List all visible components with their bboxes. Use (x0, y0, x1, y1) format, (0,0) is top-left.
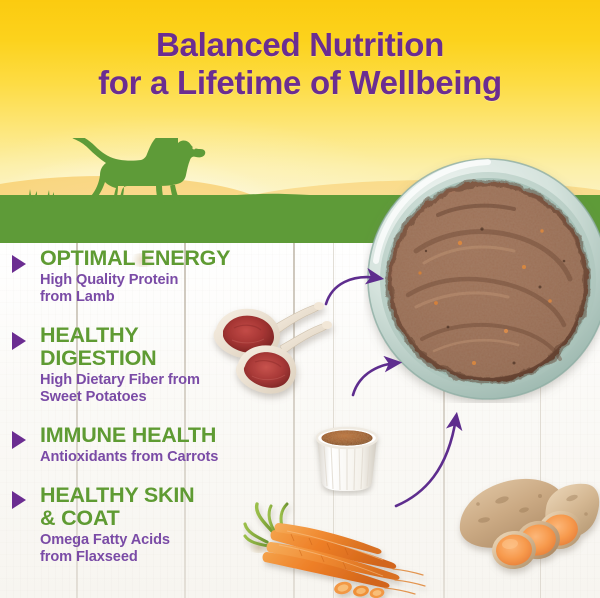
arrow-lamb-to-bowl (322, 268, 394, 310)
dog-silhouette-icon (60, 138, 240, 210)
lamb-chops-photo (200, 296, 340, 408)
benefit-immune-health: IMMUNE HEALTH Antioxidants from Carrots (0, 424, 330, 466)
triangle-bullet-icon (12, 255, 26, 273)
benefit-title: IMMUNE HEALTH (40, 424, 330, 447)
benefit-subtitle: Antioxidants from Carrots (40, 449, 330, 466)
headline-line-2: for a Lifetime of Wellbeing (0, 64, 600, 102)
triangle-bullet-icon (12, 431, 26, 449)
arrow-flaxseed-to-bowl (350, 355, 410, 399)
arrow-sweet-potato-to-bowl (390, 398, 500, 510)
headline-line-1: Balanced Nutrition (156, 26, 444, 63)
triangle-bullet-icon (12, 491, 26, 509)
benefit-title: OPTIMAL ENERGY (40, 247, 330, 270)
triangle-bullet-icon (12, 332, 26, 350)
poster-root: Balanced Nutrition for a Lifetime of Wel… (0, 0, 600, 598)
page-title: Balanced Nutrition for a Lifetime of Wel… (0, 26, 600, 103)
flaxseed-ramekin-photo (305, 412, 389, 496)
